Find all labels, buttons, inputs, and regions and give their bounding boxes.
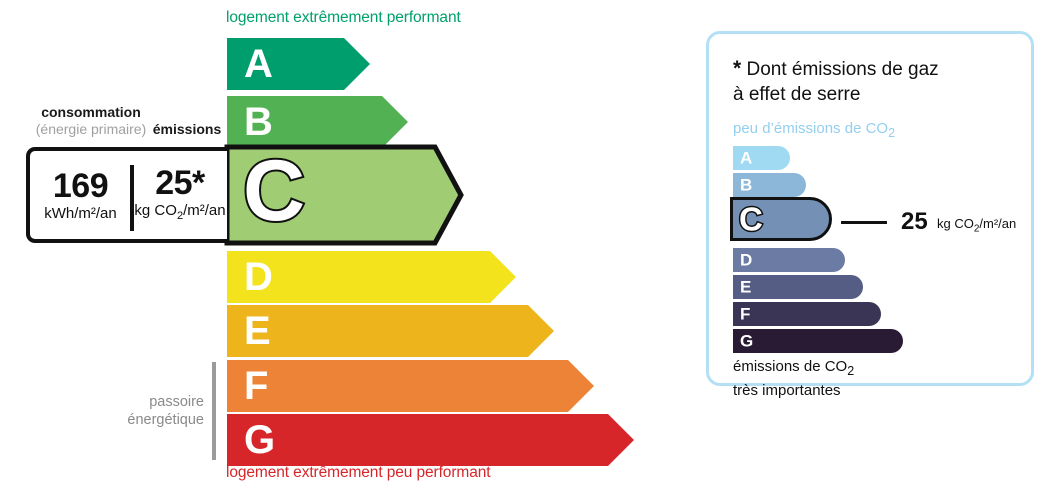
co2-bottom-caption: émissions de CO2 très importantes (733, 357, 854, 401)
co2-leader-line (841, 221, 887, 224)
emission-value-cell: 25* kg CO2/m²/an (135, 151, 225, 239)
co2-bar-letter: E (740, 279, 751, 296)
emissions-header: émissions (150, 121, 224, 137)
energy-bottom-caption: logement extrêmement peu performant (226, 464, 490, 482)
energy-bar-letter: B (244, 102, 273, 142)
co2-title-line-2: à effet de serre (733, 84, 860, 105)
energy-bar-g: G (227, 414, 634, 466)
co2-bar-letter: A (740, 150, 752, 167)
emission-value: 25* (155, 165, 205, 201)
passoire-bracket (212, 362, 216, 460)
energy-performance-chart: logement extrêmement performant consomma… (0, 0, 660, 488)
co2-bar-c: C (730, 197, 832, 241)
co2-title-line-1: Dont émissions de gaz (741, 59, 939, 80)
energy-bar-a: A (227, 38, 370, 90)
consumption-unit: kWh/m²/an (44, 205, 117, 223)
energy-bar-b: B (227, 96, 408, 148)
co2-bar-e: E (733, 275, 863, 299)
energy-bar-f: F (227, 360, 594, 412)
energy-bar-d: D (227, 251, 516, 303)
co2-bar-g: G (733, 329, 903, 353)
co2-value: 25 (901, 210, 928, 234)
co2-bottom-caption-line-2: très importantes (733, 382, 841, 399)
co2-bar-f: F (733, 302, 881, 326)
co2-bar-letter: D (740, 252, 752, 269)
energy-bar-letter: G (244, 420, 275, 460)
co2-panel-title: * Dont émissions de gaz à effet de serre (733, 56, 1003, 107)
co2-current-class-letter: C (739, 203, 763, 236)
passoire-label: passoire énergétique (80, 393, 204, 429)
consumption-value-cell: 169 kWh/m²/an (32, 151, 129, 239)
co2-bar-letter: G (740, 333, 753, 350)
emission-unit: kg CO2/m²/an (134, 202, 225, 225)
energy-bar-e: E (227, 305, 554, 357)
co2-bar-d: D (733, 248, 845, 272)
co2-bar-letter: B (740, 177, 752, 194)
co2-bar-b: B (733, 173, 806, 197)
co2-emissions-panel: * Dont émissions de gaz à effet de serre… (706, 31, 1034, 386)
co2-bar-a: A (733, 146, 790, 170)
consumption-header: consommation (énergie primaire) (30, 105, 152, 137)
energy-top-caption: logement extrêmement performant (226, 9, 461, 27)
consumption-header-label: consommation (41, 104, 141, 120)
consumption-value: 169 (53, 168, 108, 204)
energy-value-box: 169 kWh/m²/an 25* kg CO2/m²/an (26, 147, 227, 243)
value-box-divider (130, 165, 134, 231)
passoire-line-1: passoire (149, 394, 204, 410)
co2-value-unit: kg CO2/m²/an (937, 216, 1016, 235)
energy-bar-letter: A (244, 44, 273, 84)
consumption-header-sublabel: (énergie primaire) (30, 122, 152, 137)
energy-bar-letter: D (244, 257, 273, 297)
energy-current-class-letter: C (243, 148, 305, 234)
co2-top-caption: peu d’émissions de CO2 (733, 120, 895, 140)
asterisk-icon: * (733, 57, 741, 80)
energy-bar-letter: E (244, 311, 271, 351)
energy-bar-letter: F (244, 366, 268, 406)
passoire-line-2: énergétique (127, 412, 204, 428)
co2-bar-letter: F (740, 306, 750, 323)
